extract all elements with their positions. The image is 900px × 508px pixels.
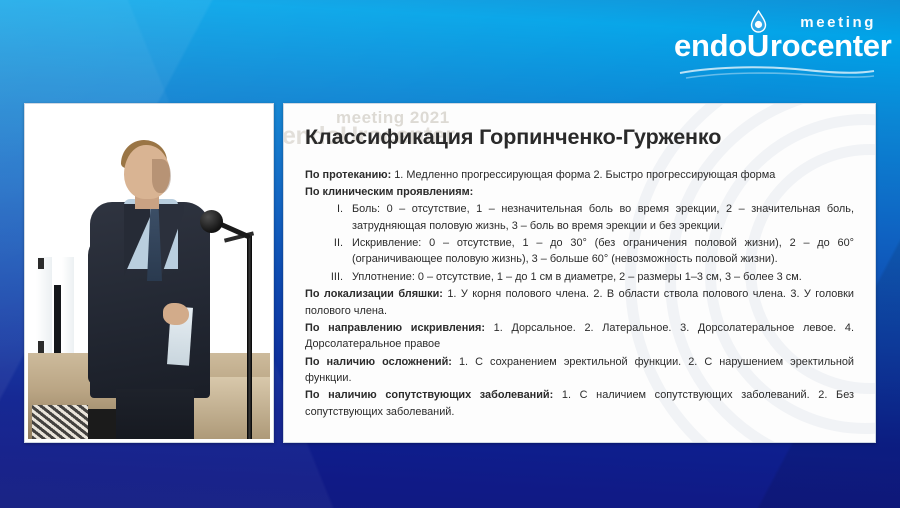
block-heading: По наличию сопутствующих заболеваний: [305,389,553,401]
classification-block: По наличию сопутствующих заболеваний: 1.… [305,387,854,420]
droplet-eye-icon: U [747,30,770,61]
list-item: III.Уплотнение: 0 – отсутствие, 1 – до 1… [305,269,854,285]
list-item-text: Боль: 0 – отсутствие, 1 – незначительная… [352,203,854,231]
block-heading: По клиническим проявлениям: [305,186,473,198]
classification-block: По локализации бляшки: 1. У корня полово… [305,286,854,319]
microphone-icon [200,210,223,233]
speaker-video-panel[interactable] [24,103,274,443]
list-item-text: Искривление: 0 – отсутствие, 1 – до 30° … [352,237,854,265]
list-item: I.Боль: 0 – отсутствие, 1 – незначительн… [305,201,854,234]
block-heading: По направлению искривления: [305,322,485,334]
block-heading: По протеканию: [305,169,391,181]
block-heading: По наличию осложнений: [305,356,452,368]
block-heading: По локализации бляшки: [305,288,443,300]
list-item-number: III. [305,269,343,285]
list-item: II.Искривление: 0 – отсутствие, 1 – до 3… [305,235,854,268]
logo-word-part2: rocenter [770,28,892,63]
block-text: 1. Медленно прогрессирующая форма 2. Быс… [391,169,775,181]
speaker-photo [28,107,270,439]
page-title: Классификация Горпинченко-Гурженко [305,126,854,150]
list-item-number: I. [305,201,343,217]
logo-swoosh-icon [678,66,876,80]
classification-block: По направлению искривления: 1. Дорсально… [305,320,854,353]
presentation-stage: meeting endoU rocenter [0,0,900,508]
classification-block: По наличию осложнений: 1. С сохранением … [305,354,854,387]
list-item-number: II. [305,235,343,251]
slide-content: meeting 2021 endoUrocenter Классификация… [284,104,875,442]
clinical-manifestations-list: I.Боль: 0 – отсутствие, 1 – незначительн… [305,201,854,285]
list-item-text: Уплотнение: 0 – отсутствие, 1 – до 1 см … [352,271,802,283]
logo-word-part1: endo [674,28,747,63]
classification-block: По протеканию: 1. Медленно прогрессирующ… [305,167,854,183]
logo-wordmark: endoU rocenter [674,30,884,61]
endourocenter-logo: meeting endoU rocenter [674,14,884,78]
slide-panel[interactable]: meeting 2021 endoUrocenter Классификация… [283,103,876,443]
classification-block: По клиническим проявлениям: [305,184,854,200]
